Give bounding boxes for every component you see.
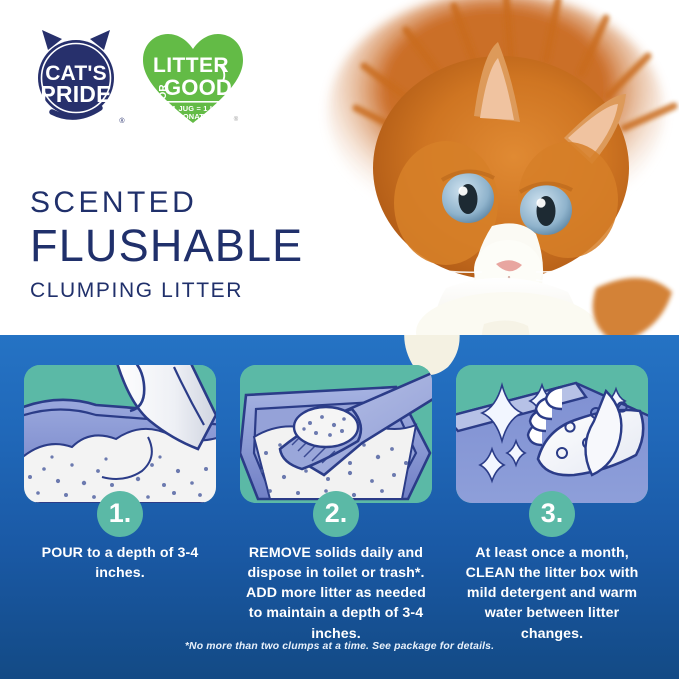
logo-text-line2: PRIDE: [40, 81, 111, 107]
pouring-litter-jug-icon: [24, 365, 216, 503]
step-1-number-badge: 1.: [97, 491, 143, 537]
badge-registered-mark: ®: [234, 116, 239, 123]
litter-for-good-badge: LITTER FOR GOOD 1 JUG = 1 LB DONATED ®: [141, 31, 245, 127]
logo-registered-mark: ®: [119, 117, 125, 125]
page-title: SCENTED FLUSHABLE CLUMPING LITTER: [30, 188, 303, 301]
step-1-number: 1.: [109, 500, 132, 527]
step-3-caption: At least once a month, CLEAN the litter …: [456, 543, 648, 644]
litter-scoop-icon: [240, 365, 432, 503]
product-instruction-graphic: CAT'S PRIDE ® LITTER FOR GOOD 1 JUG = 1 …: [0, 0, 679, 679]
cat-photo: [296, 0, 679, 335]
step-3-illustration: [456, 365, 648, 503]
step-2-caption: REMOVE solids daily and dispose in toile…: [240, 543, 432, 644]
instructions-section: 1. POUR to a depth of 3-4 inches.: [0, 335, 679, 679]
cats-pride-logo: CAT'S PRIDE ®: [26, 28, 130, 128]
badge-text-good: GOOD: [164, 75, 232, 100]
step-3-number: 3.: [541, 500, 564, 527]
step-3: 3. At least once a month, CLEAN the litt…: [456, 365, 648, 644]
title-line-clumping-litter: CLUMPING LITTER: [30, 280, 303, 301]
cleaning-sponge-hand-icon: [456, 365, 648, 503]
title-line-scented: SCENTED: [30, 188, 303, 218]
step-2-number: 2.: [325, 500, 348, 527]
step-1: 1. POUR to a depth of 3-4 inches.: [24, 365, 216, 583]
steps-list: 1. POUR to a depth of 3-4 inches.: [0, 335, 679, 679]
badge-subtext-donated: DONATED: [177, 112, 215, 121]
step-1-illustration: [24, 365, 216, 503]
title-line-flushable: FLUSHABLE: [30, 222, 303, 271]
badge-text-litter: LITTER: [153, 54, 229, 77]
hero-section: CAT'S PRIDE ® LITTER FOR GOOD 1 JUG = 1 …: [0, 0, 679, 335]
step-2: 2. REMOVE solids daily and dispose in to…: [240, 365, 432, 644]
footnote: *No more than two clumps at a time. See …: [0, 641, 679, 652]
step-2-illustration: [240, 365, 432, 503]
step-1-caption: POUR to a depth of 3-4 inches.: [24, 543, 216, 583]
step-3-number-badge: 3.: [529, 491, 575, 537]
step-2-number-badge: 2.: [313, 491, 359, 537]
